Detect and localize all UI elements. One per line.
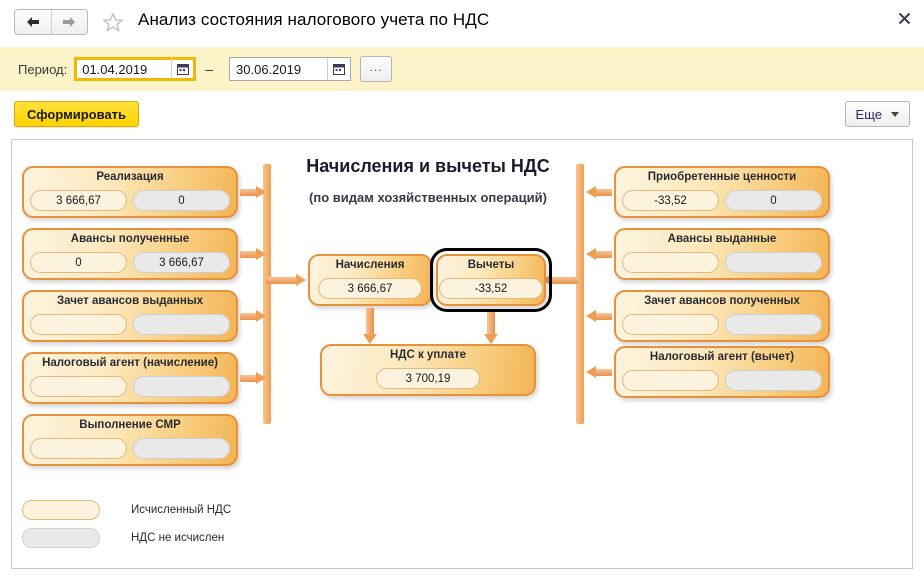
- box-caption: НДС к уплате: [322, 349, 534, 361]
- star-outline-icon[interactable]: [101, 11, 125, 35]
- more-button-label: Еще: [856, 107, 882, 122]
- box-caption: Авансы выданные: [616, 233, 828, 245]
- value-not-calculated: 0: [725, 190, 822, 211]
- diagram-title: Начисления и вычеты НДС: [278, 156, 578, 177]
- page-title: Анализ состояния налогового учета по НДС: [138, 10, 489, 30]
- period-select-button[interactable]: ...: [360, 56, 392, 82]
- period-label: Период:: [18, 62, 67, 77]
- box-values: 0 3 666,67: [30, 252, 230, 273]
- box-caption: Выполнение СМР: [24, 419, 236, 431]
- box-caption: Приобретенные ценности: [616, 171, 828, 183]
- calendar-icon[interactable]: [328, 57, 350, 81]
- box-vypolnenie-smr[interactable]: Выполнение СМР: [22, 414, 238, 466]
- box-zachet-avansov-vydannyh[interactable]: Зачет авансов выданных: [22, 290, 238, 342]
- period-from-field[interactable]: 01.04.2019: [74, 57, 196, 81]
- calendar-icon[interactable]: [172, 57, 194, 81]
- box-avansy-poluchennye[interactable]: Авансы полученные 0 3 666,67: [22, 228, 238, 280]
- box-caption: Начисления: [310, 259, 430, 271]
- arrow-deductions-to-total: [484, 312, 498, 344]
- arrow-to-right-bus: [586, 248, 612, 260]
- period-from-value: 01.04.2019: [76, 62, 171, 77]
- arrow-bus-to-accruals: [266, 274, 306, 286]
- value-not-calculated: 0: [133, 190, 230, 211]
- arrow-to-left-bus: [240, 372, 266, 384]
- box-nalogovyy-agent-vychet[interactable]: Налоговый агент (вычет): [614, 346, 830, 398]
- value-calculated: [30, 438, 127, 459]
- period-to-value: 30.06.2019: [230, 62, 327, 77]
- box-caption: Реализация: [24, 171, 236, 183]
- value-not-calculated: [133, 376, 230, 397]
- value-not-calculated: [725, 252, 822, 273]
- box-caption: Налоговый агент (начисление): [24, 357, 236, 369]
- value-calculated: 3 700,19: [376, 368, 480, 389]
- box-priobretennye-cennosti[interactable]: Приобретенные ценности -33,52 0: [614, 166, 830, 218]
- more-button[interactable]: Еще: [845, 101, 910, 127]
- value-calculated: 3 666,67: [318, 278, 422, 299]
- value-calculated: [622, 252, 719, 273]
- box-caption: Налоговый агент (вычет): [616, 351, 828, 363]
- arrow-accruals-to-total: [363, 308, 377, 344]
- arrow-to-right-bus: [586, 186, 612, 198]
- arrow-to-left-bus: [240, 310, 266, 322]
- report-panel: Начисления и вычеты НДС (по видам хозяйс…: [11, 139, 913, 569]
- box-values: [30, 314, 230, 335]
- close-icon[interactable]: [892, 6, 916, 30]
- value-calculated: -33,52: [439, 278, 543, 299]
- box-vychety[interactable]: Вычеты -33,52: [436, 254, 546, 306]
- value-calculated: 3 666,67: [30, 190, 127, 211]
- legend-label: НДС не исчислен: [131, 532, 224, 544]
- box-nds-k-uplate[interactable]: НДС к уплате 3 700,19: [320, 344, 536, 396]
- box-values: 3 700,19: [328, 368, 528, 389]
- navigation-buttons: [14, 9, 88, 35]
- arrow-right-icon: [62, 16, 76, 28]
- box-values: -33,52 0: [622, 190, 822, 211]
- diagram-canvas: Начисления и вычеты НДС (по видам хозяйс…: [12, 140, 912, 568]
- period-to-field[interactable]: 30.06.2019: [229, 57, 351, 81]
- legend-label: Исчисленный НДС: [131, 504, 231, 516]
- value-calculated: [622, 314, 719, 335]
- box-caption: Зачет авансов полученных: [616, 295, 828, 307]
- box-zachet-avansov-poluchennyh[interactable]: Зачет авансов полученных: [614, 290, 830, 342]
- box-avansy-vydannye[interactable]: Авансы выданные: [614, 228, 830, 280]
- arrow-left-icon: [26, 16, 40, 28]
- legend-swatch-calculated: [22, 500, 100, 520]
- command-bar: Сформировать Еще: [0, 91, 924, 138]
- value-not-calculated: 3 666,67: [133, 252, 230, 273]
- generate-button[interactable]: Сформировать: [14, 101, 139, 127]
- box-nalogovyy-agent-nachislenie[interactable]: Налоговый агент (начисление): [22, 352, 238, 404]
- left-bus-bar: [263, 164, 271, 424]
- value-calculated: 0: [30, 252, 127, 273]
- box-caption: Авансы полученные: [24, 233, 236, 245]
- value-calculated: [30, 314, 127, 335]
- back-button[interactable]: [15, 10, 51, 34]
- forward-button[interactable]: [51, 10, 87, 34]
- box-values: [622, 370, 822, 391]
- legend-item-calculated: Исчисленный НДС: [22, 500, 231, 520]
- arrow-to-left-bus: [240, 186, 266, 198]
- box-nachisleniya[interactable]: Начисления 3 666,67: [308, 254, 432, 306]
- box-values: [30, 376, 230, 397]
- box-values: [30, 438, 230, 459]
- period-separator: –: [205, 61, 213, 77]
- chevron-down-icon: [891, 112, 899, 117]
- value-calculated: [622, 370, 719, 391]
- box-values: [622, 314, 822, 335]
- diagram-subtitle: (по видам хозяйственных операций): [258, 190, 598, 205]
- box-values: -33,52: [444, 278, 538, 299]
- value-calculated: [30, 376, 127, 397]
- arrow-to-right-bus: [586, 366, 612, 378]
- legend-swatch-not-calculated: [22, 528, 100, 548]
- value-not-calculated: [725, 314, 822, 335]
- value-not-calculated: [133, 438, 230, 459]
- arrow-to-right-bus: [586, 310, 612, 322]
- title-bar: Анализ состояния налогового учета по НДС: [0, 0, 924, 47]
- box-values: 3 666,67 0: [30, 190, 230, 211]
- right-bus-bar: [576, 164, 584, 424]
- value-not-calculated: [725, 370, 822, 391]
- box-values: 3 666,67: [316, 278, 424, 299]
- box-values: [622, 252, 822, 273]
- period-bar: Период: 01.04.2019 – 30.06.2019 ...: [0, 47, 924, 91]
- legend-item-not-calculated: НДС не исчислен: [22, 528, 224, 548]
- box-caption: Вычеты: [438, 259, 544, 271]
- value-calculated: -33,52: [622, 190, 719, 211]
- arrow-bus-to-deductions: [542, 274, 578, 286]
- box-realizaciya[interactable]: Реализация 3 666,67 0: [22, 166, 238, 218]
- box-caption: Зачет авансов выданных: [24, 295, 236, 307]
- value-not-calculated: [133, 314, 230, 335]
- arrow-to-left-bus: [240, 248, 266, 260]
